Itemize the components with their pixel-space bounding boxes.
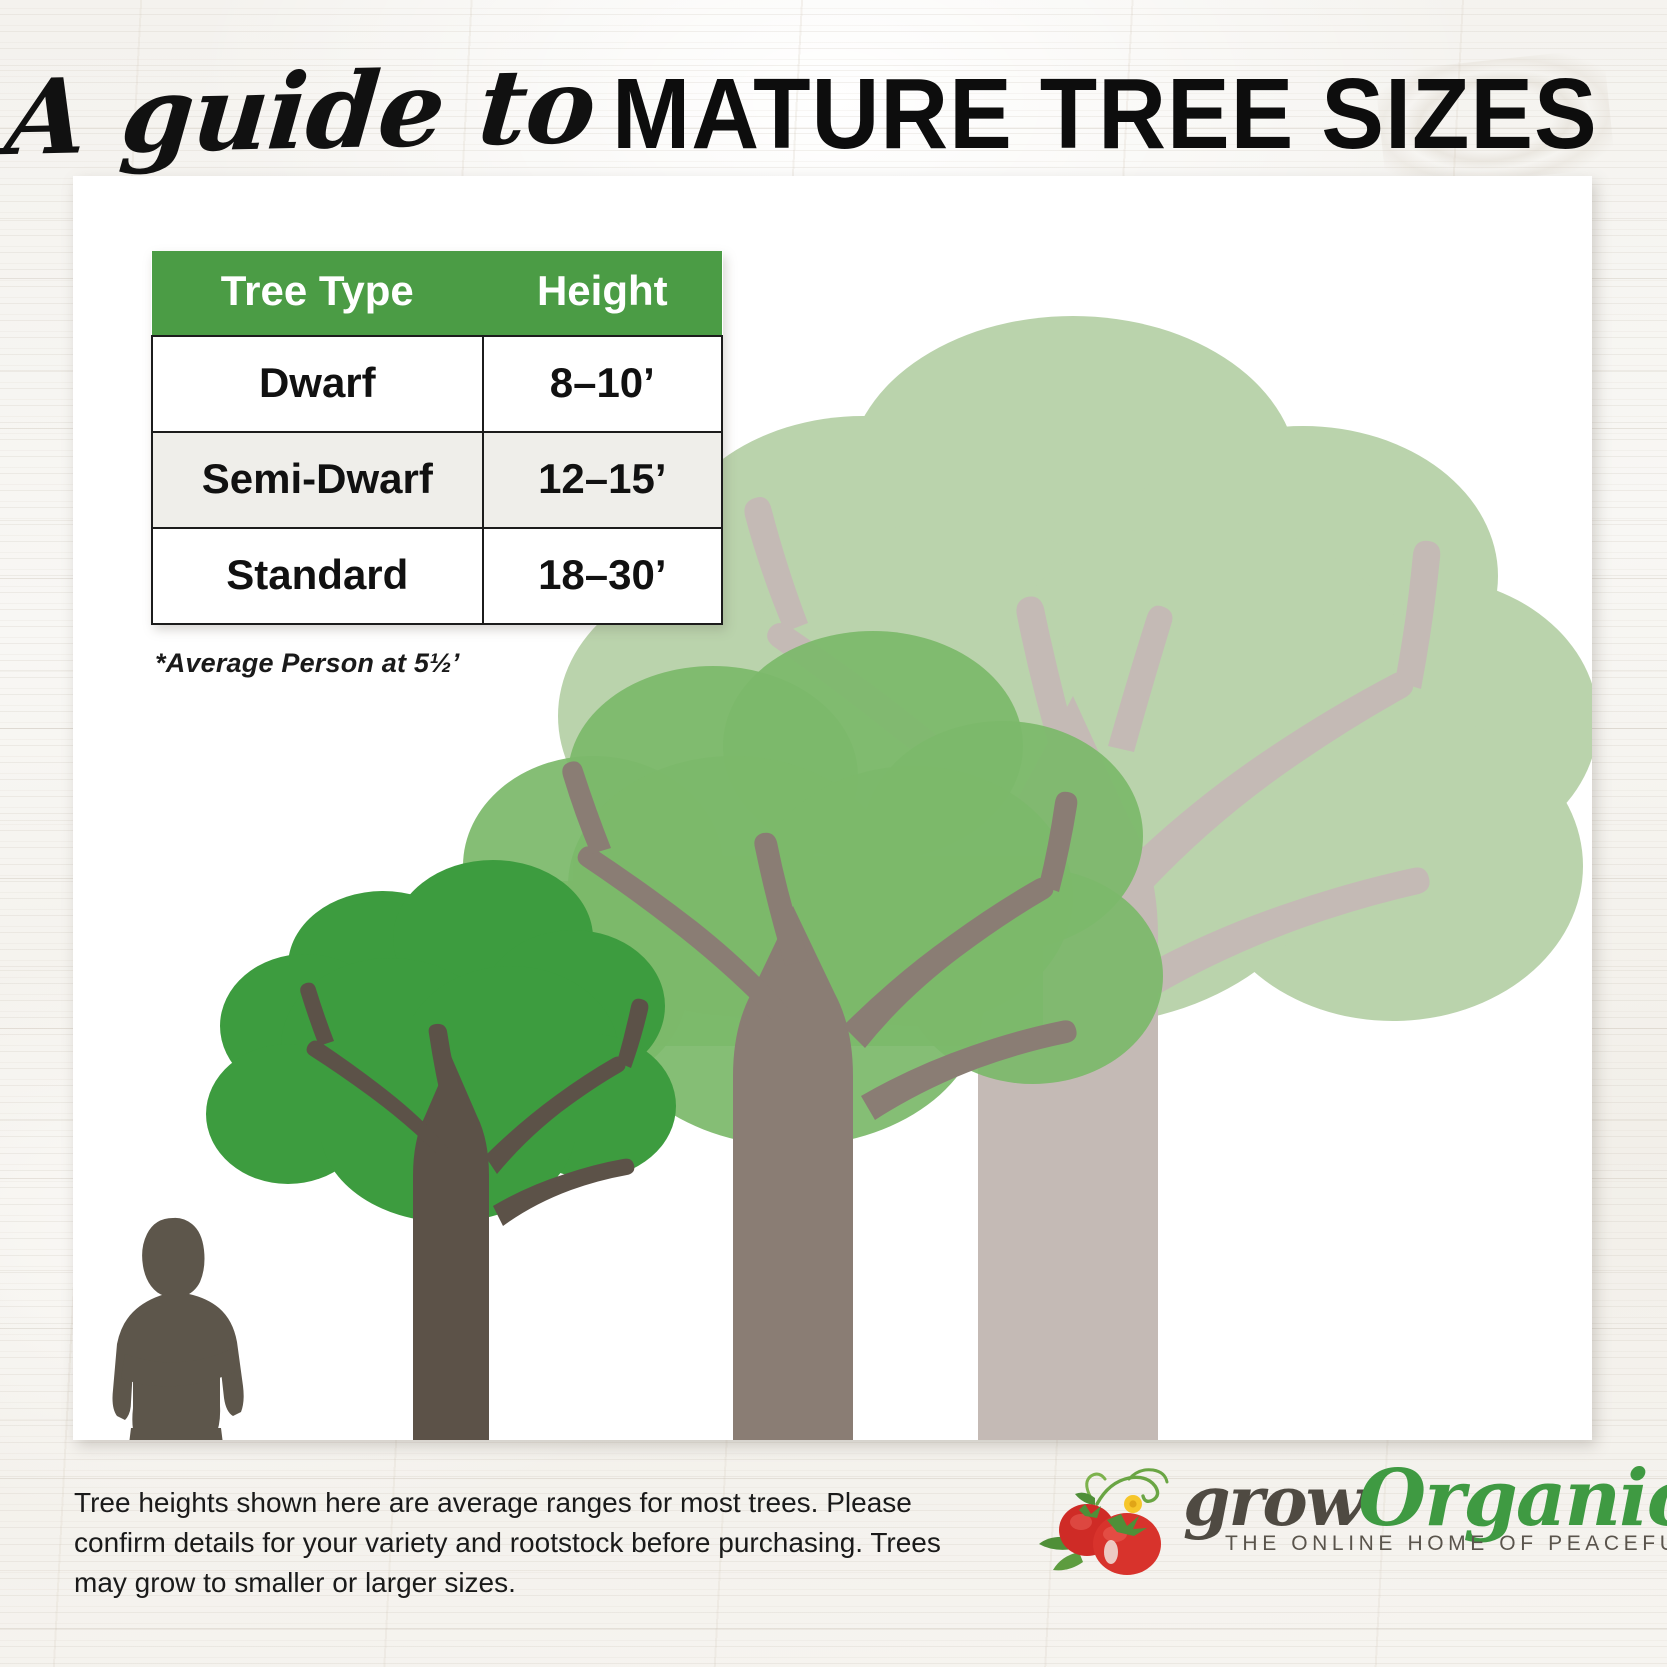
footer-disclaimer: Tree heights shown here are average rang… xyxy=(74,1483,954,1602)
table-header-row: Tree Type Height xyxy=(152,251,722,336)
logo-tagline: THE ONLINE HOME OF PEACEFUL VALLEY xyxy=(1225,1532,1667,1556)
cell-height: 12–15’ xyxy=(483,432,722,528)
cell-tree-type: Dwarf xyxy=(152,336,483,432)
logo-grow-text: grow xyxy=(1183,1462,1362,1542)
table-footnote: *Average Person at 5½’ xyxy=(155,648,460,679)
page-title-block: MATURE TREE SIZES xyxy=(612,64,1598,164)
page-title: A guide toMATURE TREE SIZES xyxy=(0,60,1667,164)
logo-wordmark: growOrganic.com xyxy=(1183,1460,1667,1538)
page-title-script: A guide to xyxy=(2,54,599,170)
grow-organic-logo[interactable]: growOrganic.com THE ONLINE HOME OF PEACE… xyxy=(1035,1440,1595,1590)
table-row: Standard 18–30’ xyxy=(152,528,722,624)
table-row: Semi-Dwarf 12–15’ xyxy=(152,432,722,528)
cell-tree-type: Semi-Dwarf xyxy=(152,432,483,528)
infographic-panel: Tree Type Height Dwarf 8–10’ Semi-Dwarf … xyxy=(73,176,1592,1440)
cell-height: 8–10’ xyxy=(483,336,722,432)
cell-tree-type: Standard xyxy=(152,528,483,624)
average-person-silhouette xyxy=(113,1218,244,1440)
tree-size-table: Tree Type Height Dwarf 8–10’ Semi-Dwarf … xyxy=(151,251,723,625)
tomato-icon xyxy=(1035,1452,1185,1582)
column-header-height: Height xyxy=(483,251,722,336)
table-row: Dwarf 8–10’ xyxy=(152,336,722,432)
dwarf-tree xyxy=(206,860,676,1440)
cell-height: 18–30’ xyxy=(483,528,722,624)
column-header-tree-type: Tree Type xyxy=(152,251,483,336)
logo-organic-text: Organic xyxy=(1358,1453,1667,1544)
